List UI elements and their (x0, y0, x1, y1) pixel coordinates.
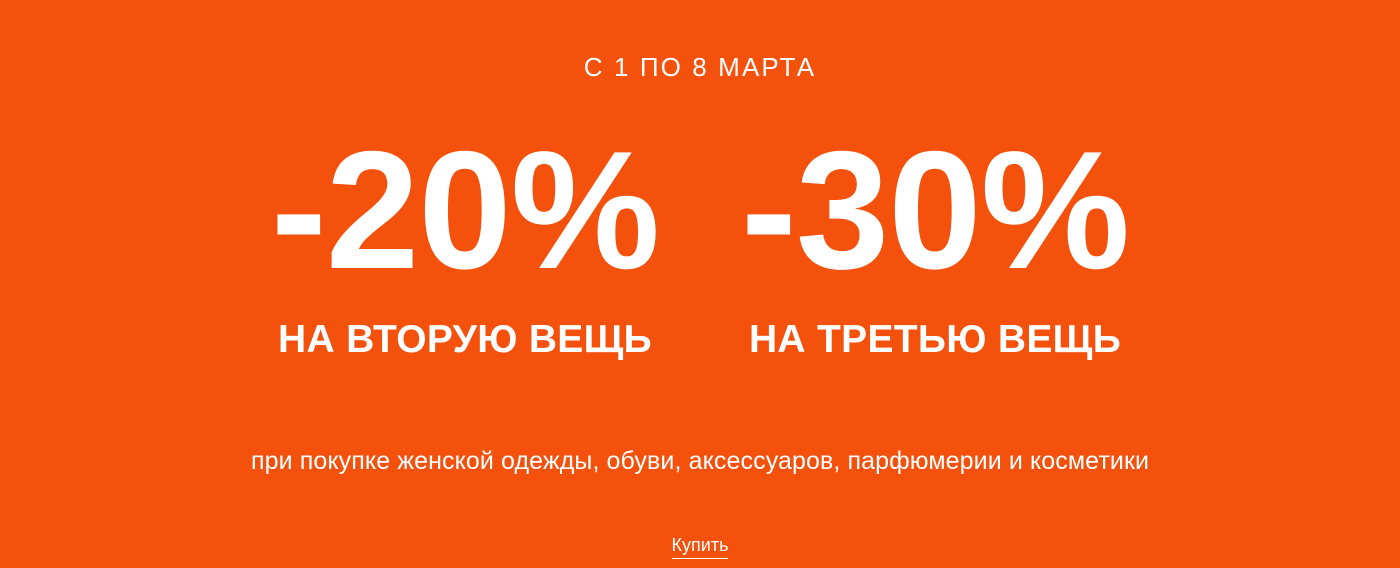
offer-third-item: -30% НА ТРЕТЬЮ ВЕЩЬ (700, 132, 1170, 359)
cta-container: Купить (0, 534, 1400, 559)
offers-row: -20% НА ВТОРУЮ ВЕЩЬ -30% НА ТРЕТЬЮ ВЕЩЬ (0, 132, 1400, 359)
offer-second-item: -20% НА ВТОРУЮ ВЕЩЬ (230, 132, 700, 359)
promo-period-text: С 1 ПО 8 МАРТА (0, 54, 1400, 80)
offer-discount-value: -20% (271, 132, 659, 288)
offer-discount-caption: НА ТРЕТЬЮ ВЕЩЬ (749, 320, 1121, 359)
buy-link[interactable]: Купить (672, 534, 729, 559)
offer-discount-value: -30% (741, 132, 1129, 288)
offer-discount-caption: НА ВТОРУЮ ВЕЩЬ (278, 320, 652, 359)
promo-banner: С 1 ПО 8 МАРТА -20% НА ВТОРУЮ ВЕЩЬ -30% … (0, 0, 1400, 568)
promo-conditions-text: при покупке женской одежды, обуви, аксес… (0, 446, 1400, 476)
